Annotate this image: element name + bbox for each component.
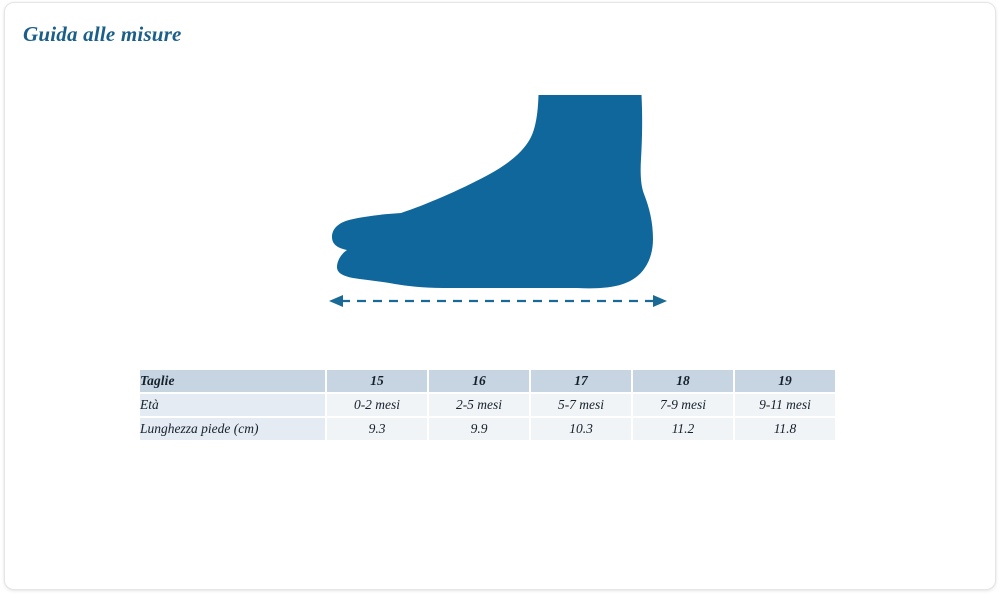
cell-lunghezza-17: 10.3 [531, 418, 631, 440]
table-header-label: Taglie [140, 370, 325, 392]
cell-eta-16: 2-5 mesi [429, 394, 529, 416]
cell-lunghezza-15: 9.3 [327, 418, 427, 440]
page-title: Guida alle misure [23, 22, 182, 47]
table-row: Età 0-2 mesi 2-5 mesi 5-7 mesi 7-9 mesi … [140, 394, 835, 416]
table-header-size-18: 18 [633, 370, 733, 392]
row-label-eta: Età [140, 394, 325, 416]
table-row: Lunghezza piede (cm) 9.3 9.9 10.3 11.2 1… [140, 418, 835, 440]
cell-lunghezza-19: 11.8 [735, 418, 835, 440]
cell-eta-15: 0-2 mesi [327, 394, 427, 416]
cell-eta-17: 5-7 mesi [531, 394, 631, 416]
foot-silhouette-path [332, 95, 653, 288]
row-label-lunghezza-piede: Lunghezza piede (cm) [140, 418, 325, 440]
table-header-size-19: 19 [735, 370, 835, 392]
table-header-size-15: 15 [327, 370, 427, 392]
cell-lunghezza-18: 11.2 [633, 418, 733, 440]
cell-lunghezza-16: 9.9 [429, 418, 529, 440]
size-table: Taglie 15 16 17 18 19 Età 0-2 mesi 2-5 m… [138, 368, 837, 442]
cell-eta-19: 9-11 mesi [735, 394, 835, 416]
size-guide-page: Guida alle misure Taglie [0, 0, 1004, 600]
table-header-size-17: 17 [531, 370, 631, 392]
cell-eta-18: 7-9 mesi [633, 394, 733, 416]
foot-illustration [323, 81, 673, 321]
measurement-arrow-line [329, 295, 667, 307]
table-header-size-16: 16 [429, 370, 529, 392]
content-card: Guida alle misure Taglie [4, 2, 996, 590]
table-header-row: Taglie 15 16 17 18 19 [140, 370, 835, 392]
